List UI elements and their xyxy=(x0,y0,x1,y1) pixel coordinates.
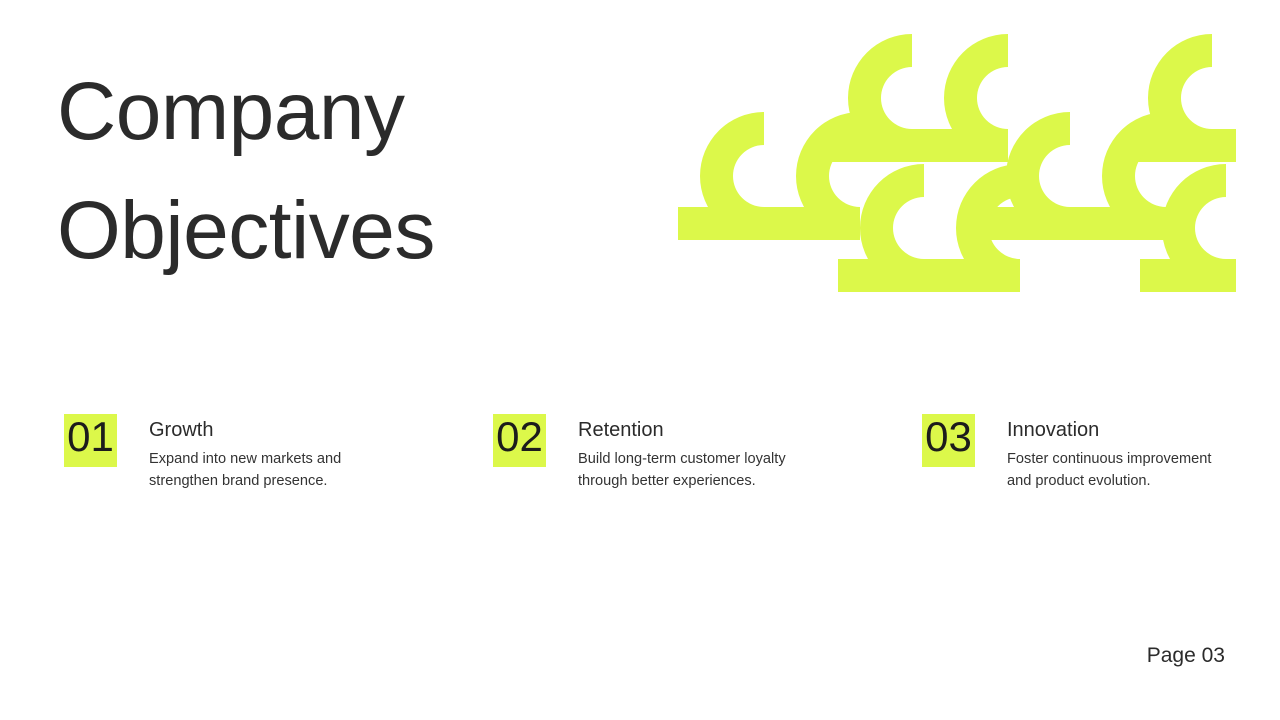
objective-item-3[interactable]: 03 Innovation Foster continuous improvem… xyxy=(922,414,1225,493)
objective-number-badge: 02 xyxy=(493,414,546,467)
objective-number-badge: 03 xyxy=(922,414,975,467)
objective-item-1[interactable]: 01 Growth Expand into new markets and st… xyxy=(64,414,367,493)
title-line-1: Company xyxy=(57,52,617,171)
objective-title: Retention xyxy=(578,417,796,443)
objective-number: 01 xyxy=(64,410,117,463)
objective-text-block: Retention Build long-term customer loyal… xyxy=(578,414,796,493)
objective-title: Innovation xyxy=(1007,417,1225,443)
page-title: Company Objectives xyxy=(57,52,617,290)
objective-description: Expand into new markets and strengthen b… xyxy=(149,448,367,493)
slide-canvas: Company Objectives xyxy=(0,0,1280,720)
objective-title: Growth xyxy=(149,417,367,443)
page-number-label: Page 03 xyxy=(1147,643,1225,669)
quote-marks-cluster-icon xyxy=(636,34,1236,306)
objective-description: Build long-term customer loyalty through… xyxy=(578,448,796,493)
objective-item-2[interactable]: 02 Retention Build long-term customer lo… xyxy=(493,414,796,493)
objective-text-block: Innovation Foster continuous improvement… xyxy=(1007,414,1225,493)
objective-number: 02 xyxy=(493,410,546,463)
objective-description: Foster continuous improvement and produc… xyxy=(1007,448,1225,493)
title-line-2: Objectives xyxy=(57,171,617,290)
objective-number-badge: 01 xyxy=(64,414,117,467)
objective-number: 03 xyxy=(922,410,975,463)
objective-text-block: Growth Expand into new markets and stren… xyxy=(149,414,367,493)
